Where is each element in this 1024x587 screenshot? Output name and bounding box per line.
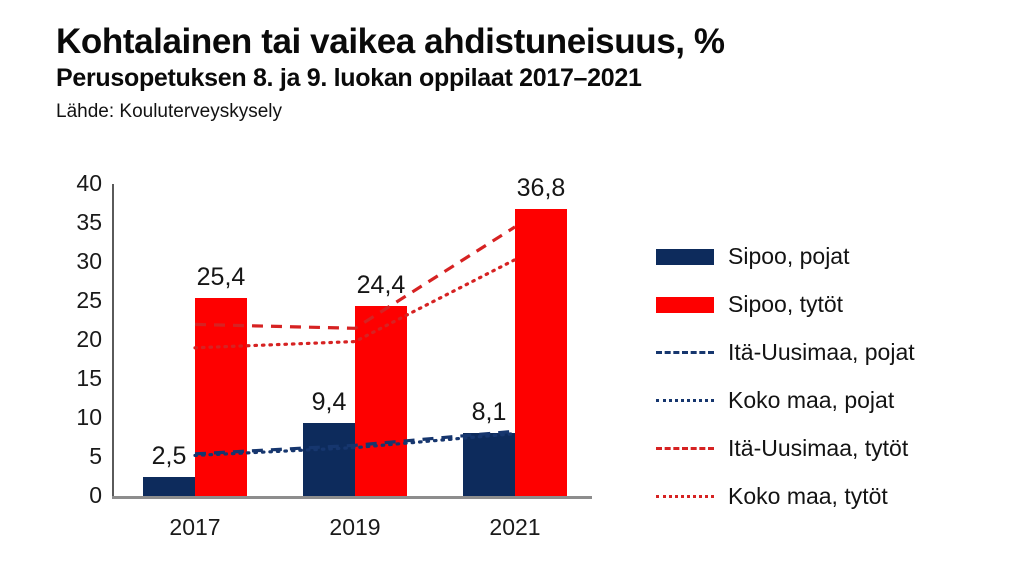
legend-item-label: Sipoo, tytöt <box>728 293 843 316</box>
legend-item[interactable]: Sipoo, tytöt <box>656 280 1016 328</box>
legend-swatch-icon <box>656 297 714 313</box>
legend-item[interactable]: Itä-Uusimaa, pojat <box>656 328 1016 376</box>
legend-swatch-icon <box>656 249 714 265</box>
legend-swatch-icon <box>656 399 714 402</box>
chart-legend: Sipoo, pojatSipoo, tytötItä-Uusimaa, poj… <box>656 232 1016 520</box>
legend-item[interactable]: Itä-Uusimaa, tytöt <box>656 424 1016 472</box>
legend-item[interactable]: Koko maa, pojat <box>656 376 1016 424</box>
legend-item-label: Itä-Uusimaa, tytöt <box>728 437 908 460</box>
legend-item[interactable]: Sipoo, pojat <box>656 232 1016 280</box>
legend-item-label: Koko maa, pojat <box>728 389 894 412</box>
legend-key-red-swatch <box>656 293 718 315</box>
legend-key-red-dashed <box>656 437 718 459</box>
line-series <box>195 431 515 454</box>
legend-item-label: Sipoo, pojat <box>728 245 849 268</box>
legend-key-navy-dashed <box>656 341 718 363</box>
line-series <box>195 260 515 348</box>
legend-swatch-icon <box>656 447 714 450</box>
legend-swatch-icon <box>656 351 714 354</box>
legend-item-label: Itä-Uusimaa, pojat <box>728 341 915 364</box>
legend-key-red-dotted <box>656 485 718 507</box>
legend-item-label: Koko maa, tytöt <box>728 485 888 508</box>
legend-key-navy-swatch <box>656 245 718 267</box>
legend-key-navy-dotted <box>656 389 718 411</box>
legend-swatch-icon <box>656 495 714 498</box>
line-series <box>195 227 515 328</box>
legend-item[interactable]: Koko maa, tytöt <box>656 472 1016 520</box>
